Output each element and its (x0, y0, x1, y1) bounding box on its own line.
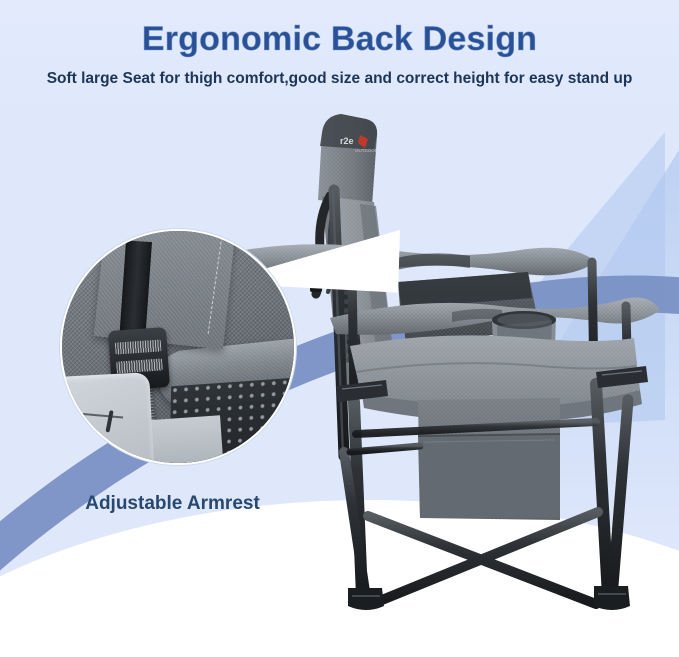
svg-text:OUTDOOR: OUTDOOR (355, 148, 379, 153)
callout-cooler-bag (60, 372, 155, 465)
callout-zipper-pull-icon (106, 410, 114, 432)
svg-text:r2e: r2e (340, 136, 354, 146)
chair-storage-pouch (418, 398, 560, 520)
armrest-detail-callout (60, 229, 296, 465)
product-feature-image: Ergonomic Back Design Soft large Seat fo… (0, 0, 679, 657)
callout-buckle-bar-top (115, 339, 162, 354)
callout-caption: Adjustable Armrest (0, 493, 345, 515)
callout-buckle-bar-bottom (116, 358, 163, 373)
callout-stitch-line (208, 229, 224, 334)
chair-headrest: r2e OUTDOOR (318, 114, 379, 206)
callout-cooler-zipper (60, 410, 123, 418)
callout-photo (62, 231, 294, 463)
